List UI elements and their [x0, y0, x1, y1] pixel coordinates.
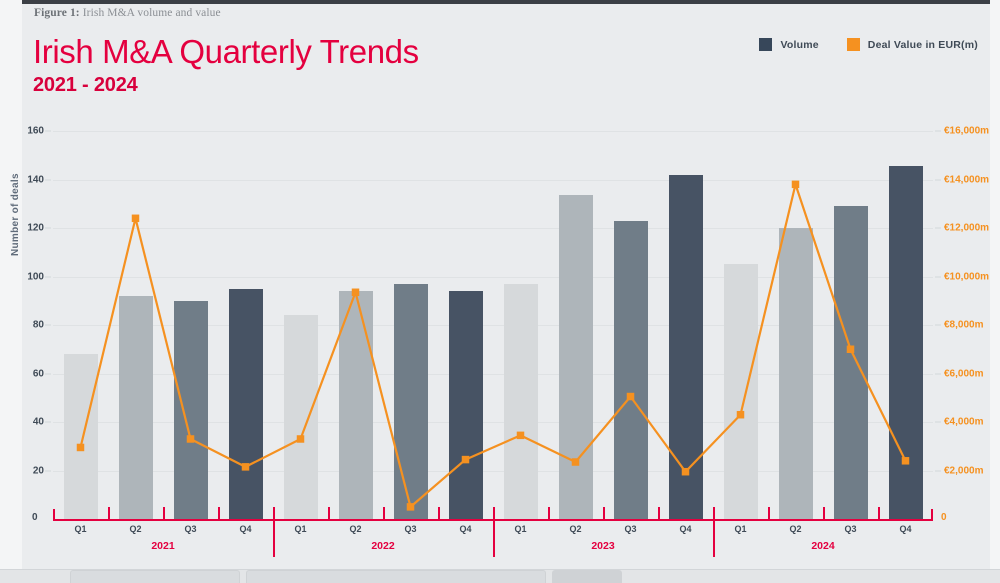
page-left-margin — [0, 0, 22, 583]
deal-value-marker-2023-Q1[interactable]: 2023 Q1: €3,450m — [517, 432, 525, 440]
x-axis-left-cap — [53, 509, 55, 521]
square-swatch-icon — [759, 38, 772, 51]
x-axis-tick — [328, 507, 330, 520]
y-axis-tick-label: 40 — [33, 417, 44, 428]
y2-axis-tick — [935, 276, 941, 277]
y-axis-tick — [45, 470, 51, 471]
page-right-margin — [990, 0, 1000, 583]
x-axis-label-2021-Q4: Q4 — [239, 524, 251, 534]
deal-value-marker-2024-Q1[interactable]: 2024 Q1: €4,300m — [737, 411, 745, 419]
y-axis-tick — [45, 325, 51, 326]
year-separator-2022 — [273, 509, 275, 557]
y2-axis-tick-label: €14,000m — [944, 174, 989, 185]
year-label-2023: 2023 — [591, 540, 614, 552]
y-axis-tick-label: 60 — [33, 368, 44, 379]
legend-label-volume: Volume — [780, 39, 818, 51]
y-axis-tick — [45, 179, 51, 180]
y-axis-tick-label: 120 — [27, 223, 44, 234]
x-axis-tick — [768, 507, 770, 520]
x-axis-tick — [548, 507, 550, 520]
deal-value-marker-2021-Q3[interactable]: 2021 Q3: €3,300m — [187, 435, 195, 443]
y2-axis-tick-label: €12,000m — [944, 223, 989, 234]
figure-caption-prefix: Figure 1: — [34, 7, 80, 19]
deal-value-marker-2022-Q1[interactable]: 2022 Q1: €3,300m — [297, 435, 305, 443]
y2-axis-tick — [935, 373, 941, 374]
page-title: Irish M&A Quarterly Trends — [33, 33, 419, 71]
y-axis-zero-label: 0 — [32, 512, 38, 523]
taskbar-item-2[interactable] — [246, 570, 546, 583]
deal-value-marker-2021-Q2[interactable]: 2021 Q2: €12,400m — [132, 215, 140, 223]
y-axis-tick-label: 160 — [27, 126, 44, 137]
plot-area: 20€2,000m40€4,000m60€6,000m80€8,000m100€… — [53, 131, 933, 519]
y-axis-tick-label: 140 — [27, 174, 44, 185]
taskbar-item-1[interactable] — [70, 570, 240, 583]
figure-caption-text: Irish M&A volume and value — [80, 7, 221, 19]
x-axis-label-2021-Q1: Q1 — [74, 524, 86, 534]
y2-axis-tick-label: €2,000m — [944, 465, 983, 476]
x-axis-label-2024-Q2: Q2 — [789, 524, 801, 534]
deal-value-marker-2022-Q2[interactable]: 2022 Q2: €9,350m — [352, 289, 360, 297]
x-axis-tick — [823, 507, 825, 520]
x-axis-tick — [383, 507, 385, 520]
y2-axis-tick-label: €6,000m — [944, 368, 983, 379]
x-axis-label-2023-Q1: Q1 — [514, 524, 526, 534]
y2-axis-tick — [935, 179, 941, 180]
y-axis-tick — [45, 422, 51, 423]
y2-axis-tick-label: €8,000m — [944, 320, 983, 331]
y2-axis-tick-label: €16,000m — [944, 126, 989, 137]
x-axis-tick — [878, 507, 880, 520]
x-axis-tick — [438, 507, 440, 520]
deal-value-marker-2021-Q1[interactable]: 2021 Q1: €2,950m — [77, 444, 85, 452]
y2-axis-tick — [935, 422, 941, 423]
square-swatch-icon — [847, 38, 860, 51]
x-axis-tick — [218, 507, 220, 520]
window-top-edge — [0, 0, 1000, 4]
deal-value-marker-2024-Q2[interactable]: 2024 Q2: €13,800m — [792, 181, 800, 189]
y-axis-tick-label: 80 — [33, 320, 44, 331]
y-axis-tick-label: 100 — [27, 271, 44, 282]
x-axis-tick — [658, 507, 660, 520]
y2-axis-tick-label: €10,000m — [944, 271, 989, 282]
x-axis-label-2024-Q4: Q4 — [899, 524, 911, 534]
y2-axis-tick — [935, 228, 941, 229]
x-axis-label-2023-Q2: Q2 — [569, 524, 581, 534]
y2-axis-tick-label: €4,000m — [944, 417, 983, 428]
legend-label-deal-value: Deal Value in EUR(m) — [868, 39, 978, 51]
x-axis-label-2022-Q2: Q2 — [349, 524, 361, 534]
legend-item-volume[interactable]: Volume — [759, 38, 818, 51]
x-axis-tick — [163, 507, 165, 520]
x-axis-right-cap — [931, 509, 933, 521]
y-axis-tick — [45, 276, 51, 277]
y2-axis-zero-label: 0 — [941, 512, 947, 523]
deal-value-marker-2023-Q3[interactable]: 2023 Q3: €5,050m — [627, 393, 635, 401]
x-axis-tick — [108, 507, 110, 520]
x-axis-label-2022-Q3: Q3 — [404, 524, 416, 534]
y2-axis-tick — [935, 470, 941, 471]
chart-legend: Volume Deal Value in EUR(m) — [759, 38, 978, 51]
y-axis-tick-label: 20 — [33, 465, 44, 476]
year-separator-2024 — [713, 509, 715, 557]
x-axis-label-2023-Q4: Q4 — [679, 524, 691, 534]
year-label-2021: 2021 — [151, 540, 174, 552]
deal-value-marker-2024-Q3[interactable]: 2024 Q3: €7,000m — [847, 346, 855, 354]
chart-page: Figure 1: Irish M&A volume and value Iri… — [0, 0, 1000, 583]
taskbar-item-3[interactable] — [552, 570, 622, 583]
legend-item-deal-value[interactable]: Deal Value in EUR(m) — [847, 38, 978, 51]
deal-value-marker-2022-Q3[interactable]: 2022 Q3: €500m — [407, 503, 415, 511]
page-subtitle: 2021 - 2024 — [33, 74, 138, 97]
y-axis-title: Number of deals — [10, 173, 21, 256]
y-axis-tick — [45, 373, 51, 374]
figure-caption: Figure 1: Irish M&A volume and value — [34, 7, 221, 19]
year-separator-2023 — [493, 509, 495, 557]
year-label-2022: 2022 — [371, 540, 394, 552]
y-axis-tick — [45, 131, 51, 132]
deal-value-marker-2023-Q4[interactable]: 2023 Q4: €1,950m — [682, 468, 690, 476]
deal-value-marker-2024-Q4[interactable]: 2024 Q4: €2,400m — [902, 457, 910, 465]
x-axis-label-2021-Q2: Q2 — [129, 524, 141, 534]
y-axis-tick — [45, 228, 51, 229]
deal-value-marker-2022-Q4[interactable]: 2022 Q4: €2,450m — [462, 456, 470, 464]
x-axis-label-2022-Q1: Q1 — [294, 524, 306, 534]
x-axis-label-2024-Q1: Q1 — [734, 524, 746, 534]
deal-value-marker-2023-Q2[interactable]: 2023 Q2: €2,350m — [572, 458, 580, 466]
deal-value-marker-2021-Q4[interactable]: 2021 Q4: €2,150m — [242, 463, 250, 471]
x-axis-tick — [603, 507, 605, 520]
x-axis-label-2023-Q3: Q3 — [624, 524, 636, 534]
x-axis-label-2021-Q3: Q3 — [184, 524, 196, 534]
line-series-deal-value: 2021 Q1: €2,950m2021 Q2: €12,400m2021 Q3… — [53, 131, 933, 519]
x-axis-label-2022-Q4: Q4 — [459, 524, 471, 534]
x-axis-label-2024-Q3: Q3 — [844, 524, 856, 534]
y2-axis-tick — [935, 325, 941, 326]
y2-axis-tick — [935, 131, 941, 132]
year-label-2024: 2024 — [811, 540, 834, 552]
deal-value-line — [81, 184, 906, 507]
